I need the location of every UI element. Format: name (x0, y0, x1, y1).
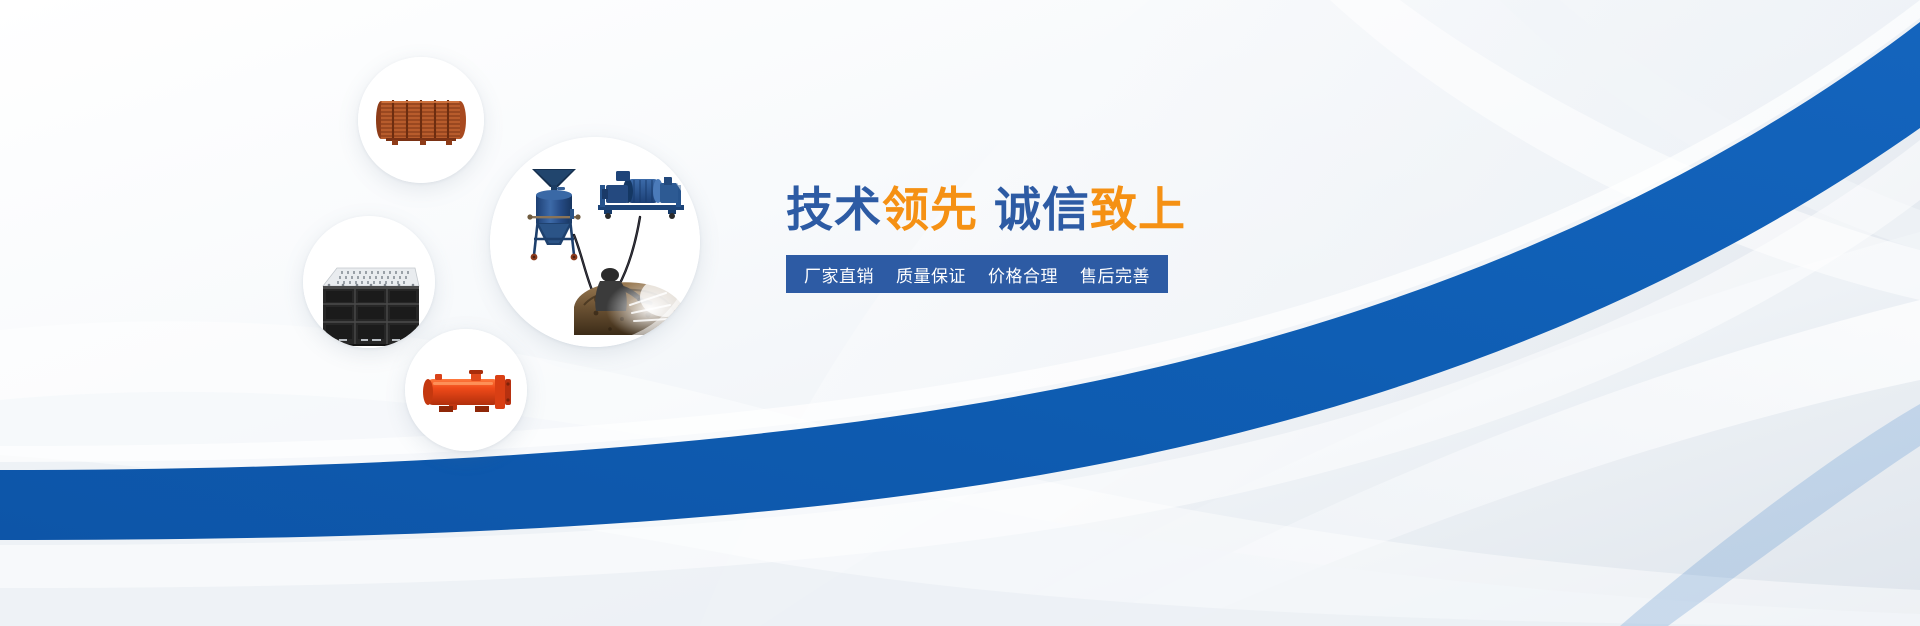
product-circle-main-equipment (490, 137, 700, 347)
product-circle-tube-bundle (358, 57, 484, 183)
product-circle-red-vessel (405, 329, 527, 451)
headline-segment-3: 诚信 (994, 183, 1090, 236)
red-vessel-image (405, 329, 527, 451)
cleaning-equipment-image (490, 137, 700, 347)
tube-bundle-image (358, 57, 484, 183)
background-decor (0, 0, 1920, 626)
tagline-bar: 厂家直销质量保证价格合理售后完善 (786, 255, 1168, 293)
background-wave (0, 0, 1920, 626)
product-circle-plate-cooler (303, 216, 435, 348)
tagline-item-1: 厂家直销 (804, 262, 874, 287)
plate-cooler-image (303, 216, 435, 348)
tagline-item-4: 售后完善 (1080, 262, 1150, 287)
headline-segment-1: 技术 (786, 183, 882, 236)
copy-block: 技术领先诚信致上 厂家直销质量保证价格合理售后完善 (786, 186, 1206, 293)
page-title: 技术领先诚信致上 (786, 186, 1206, 233)
tagline-item-2: 质量保证 (896, 262, 966, 287)
headline-segment-2: 领先 (882, 183, 978, 236)
promo-banner: 技术领先诚信致上 厂家直销质量保证价格合理售后完善 (0, 0, 1920, 626)
headline-segment-4: 致上 (1090, 183, 1186, 236)
tagline-item-3: 价格合理 (988, 262, 1058, 287)
